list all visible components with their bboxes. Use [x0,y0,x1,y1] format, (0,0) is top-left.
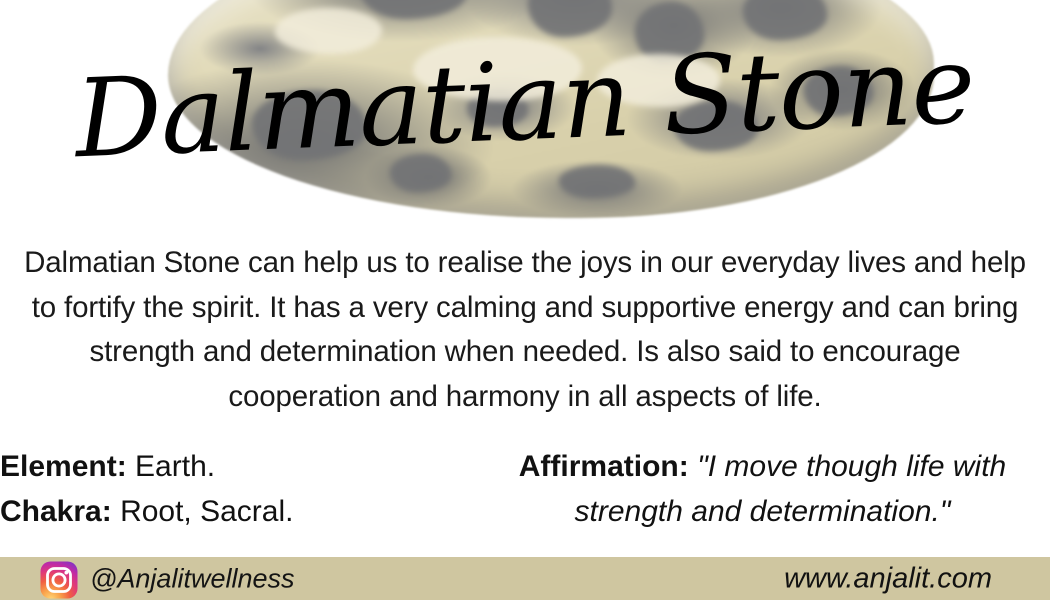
element-value: Earth. [135,450,215,483]
stone-description: Dalmatian Stone can help us to realise t… [14,241,1036,419]
chakra-line: Chakra: Root, Sacral. [0,489,410,534]
page-title: Dalmatian Stone [0,0,1050,222]
instagram-icon[interactable] [40,561,78,599]
website-url[interactable]: www.anjalit.com [784,562,992,595]
stone-properties: Element: Earth. Chakra: Root, Sacral. [0,444,410,534]
affirmation-block: Affirmation: "I move though life with st… [490,444,1035,534]
stone-info-card: Dalmatian Stone Dalmatian Stone can help… [0,0,1050,600]
attributes-section: Element: Earth. Chakra: Root, Sacral. Af… [0,444,1050,540]
chakra-value: Root, Sacral. [120,495,293,528]
instagram-handle[interactable]: @Anjalitwellness [90,563,295,594]
hero-banner: Dalmatian Stone [0,0,1050,222]
element-label: Element: [0,450,127,483]
element-line: Element: Earth. [0,444,410,489]
affirmation-label: Affirmation: [519,450,689,483]
footer-bar: @Anjalitwellness www.anjalit.com [0,557,1050,600]
chakra-label: Chakra: [0,495,112,528]
